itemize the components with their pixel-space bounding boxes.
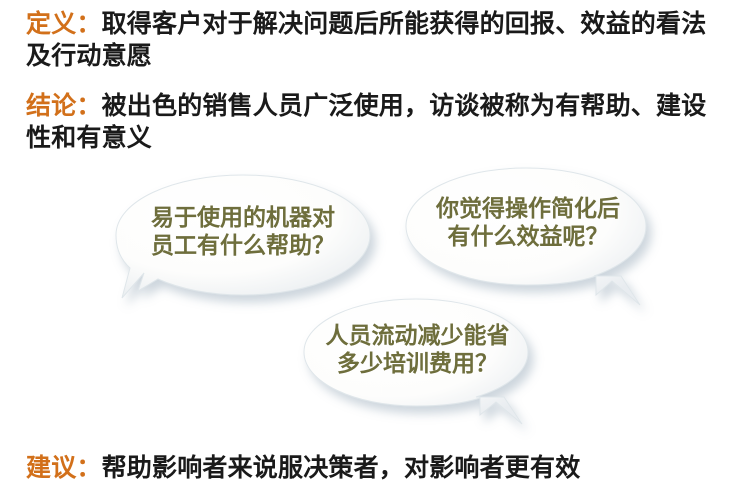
slide-canvas: 定义：取得客户对于解决问题后所能获得的回报、效益的看法及行动意愿 结论：被出色的…: [0, 0, 741, 495]
conclusion-paragraph: 结论：被出色的销售人员广泛使用，访谈被称为有帮助、建设性和有意义: [26, 90, 726, 154]
suggestion-paragraph: 建议：帮助影响者来说服决策者，对影响者更有效: [26, 452, 726, 484]
speech-bubble-1-text: 易于使用的机器对 员工有什么帮助？: [124, 204, 362, 261]
suggestion-label: 建议：: [26, 453, 102, 482]
speech-bubble-2: 你觉得操作简化后 有什么效益呢？: [400, 165, 662, 310]
conclusion-label: 结论：: [26, 91, 102, 120]
speech-bubble-3: 人员流动减少能省 多少培训费用？: [300, 296, 550, 431]
definition-label: 定义：: [26, 9, 102, 38]
suggestion-text: 帮助影响者来说服决策者，对影响者更有效: [102, 453, 581, 482]
conclusion-text: 被出色的销售人员广泛使用，访谈被称为有帮助、建设性和有意义: [26, 91, 706, 152]
definition-paragraph: 定义：取得客户对于解决问题后所能获得的回报、效益的看法及行动意愿: [26, 8, 726, 72]
speech-bubble-2-text: 你觉得操作简化后 有什么效益呢？: [414, 195, 642, 252]
speech-bubble-3-text: 人员流动减少能省 多少培训费用？: [310, 322, 525, 379]
definition-text: 取得客户对于解决问题后所能获得的回报、效益的看法及行动意愿: [26, 9, 706, 70]
